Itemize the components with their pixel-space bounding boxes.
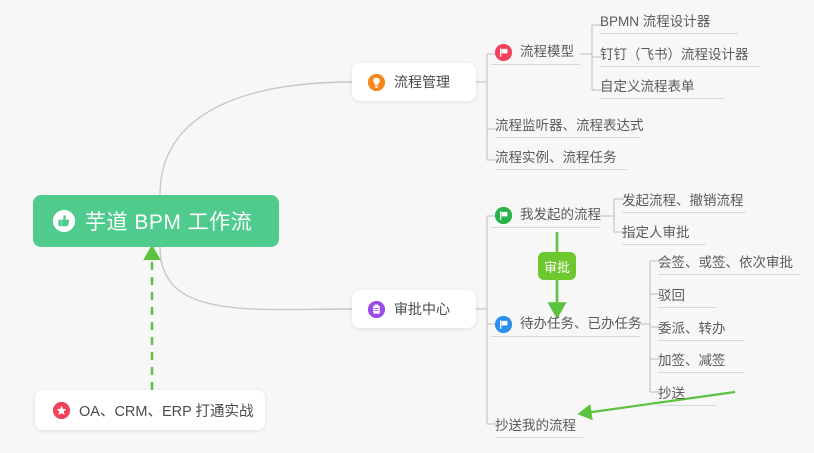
leaf-countersign-orsign-sequential-label: 会签、或签、依次审批 <box>658 256 793 270</box>
leaf-process-listener-expression[interactable]: 流程监听器、流程表达式 <box>495 112 641 138</box>
thumbs-up-icon <box>53 210 75 232</box>
node-todo-done-tasks-underline <box>491 336 640 337</box>
leaf-add-remove-signer[interactable]: 加签、减签 <box>658 347 744 373</box>
leaf-dingtalk-feishu-designer[interactable]: 钉钉（飞书）流程设计器 <box>600 41 760 67</box>
flag-red-icon <box>495 44 512 61</box>
leaf-custom-process-form-label: 自定义流程表单 <box>600 80 695 94</box>
leaf-delegate-transfer-label: 委派、转办 <box>658 322 726 336</box>
mindmap-canvas: 芋道 BPM 工作流 流程管理 流程模型 BPMN 流程设计器 钉钉 <box>0 0 814 453</box>
flag-blue-icon <box>495 316 512 333</box>
node-integration-practice[interactable]: OA、CRM、ERP 打通实战 <box>35 390 265 430</box>
annotation-approve-tag-label: 审批 <box>544 257 570 276</box>
branch-approval-center-label: 审批中心 <box>394 299 450 319</box>
clipboard-icon <box>368 301 385 318</box>
node-integration-practice-label: OA、CRM、ERP 打通实战 <box>79 400 254 421</box>
node-my-initiated-processes-label: 我发起的流程 <box>520 208 601 222</box>
branch-process-management[interactable]: 流程管理 <box>352 63 476 101</box>
leaf-designated-approver-label: 指定人审批 <box>622 226 690 240</box>
leaf-process-instance-task-label: 流程实例、流程任务 <box>495 151 617 165</box>
leaf-bpmn-designer[interactable]: BPMN 流程设计器 <box>600 8 738 34</box>
root-node[interactable]: 芋道 BPM 工作流 <box>33 195 279 247</box>
leaf-start-cancel-process[interactable]: 发起流程、撤销流程 <box>622 187 746 213</box>
flag-green-icon <box>495 207 512 224</box>
leaf-add-remove-signer-label: 加签、减签 <box>658 354 726 368</box>
leaf-process-instance-task[interactable]: 流程实例、流程任务 <box>495 144 627 170</box>
leaf-start-cancel-process-label: 发起流程、撤销流程 <box>622 194 744 208</box>
leaf-process-listener-expression-label: 流程监听器、流程表达式 <box>495 119 644 133</box>
leaf-custom-process-form[interactable]: 自定义流程表单 <box>600 73 724 99</box>
star-icon <box>53 402 70 419</box>
leaf-cc-to-me-label: 抄送我的流程 <box>495 419 576 433</box>
leaf-reject-label: 驳回 <box>658 289 685 303</box>
leaf-cc[interactable]: 抄送 <box>658 380 716 406</box>
node-my-initiated-underline <box>491 227 600 228</box>
leaf-countersign-orsign-sequential[interactable]: 会签、或签、依次审批 <box>658 249 800 275</box>
lightbulb-icon <box>368 74 385 91</box>
node-process-model-label: 流程模型 <box>520 45 574 59</box>
branch-process-management-label: 流程管理 <box>394 72 450 92</box>
root-node-label: 芋道 BPM 工作流 <box>85 206 252 236</box>
leaf-dingtalk-feishu-designer-label: 钉钉（飞书）流程设计器 <box>600 48 749 62</box>
leaf-reject[interactable]: 驳回 <box>658 282 716 308</box>
annotation-approve-tag: 审批 <box>538 252 576 280</box>
node-todo-done-tasks[interactable]: 待办任务、已办任务 <box>495 312 640 336</box>
leaf-bpmn-designer-label: BPMN 流程设计器 <box>600 15 710 29</box>
node-process-model-underline <box>491 64 580 65</box>
branch-approval-center[interactable]: 审批中心 <box>352 290 476 328</box>
leaf-designated-approver[interactable]: 指定人审批 <box>622 219 706 245</box>
leaf-delegate-transfer[interactable]: 委派、转办 <box>658 315 744 341</box>
leaf-cc-label: 抄送 <box>658 387 685 401</box>
node-process-model[interactable]: 流程模型 <box>495 40 580 64</box>
leaf-cc-to-me[interactable]: 抄送我的流程 <box>495 412 583 438</box>
node-todo-done-tasks-label: 待办任务、已办任务 <box>520 317 642 331</box>
node-my-initiated-processes[interactable]: 我发起的流程 <box>495 203 600 227</box>
